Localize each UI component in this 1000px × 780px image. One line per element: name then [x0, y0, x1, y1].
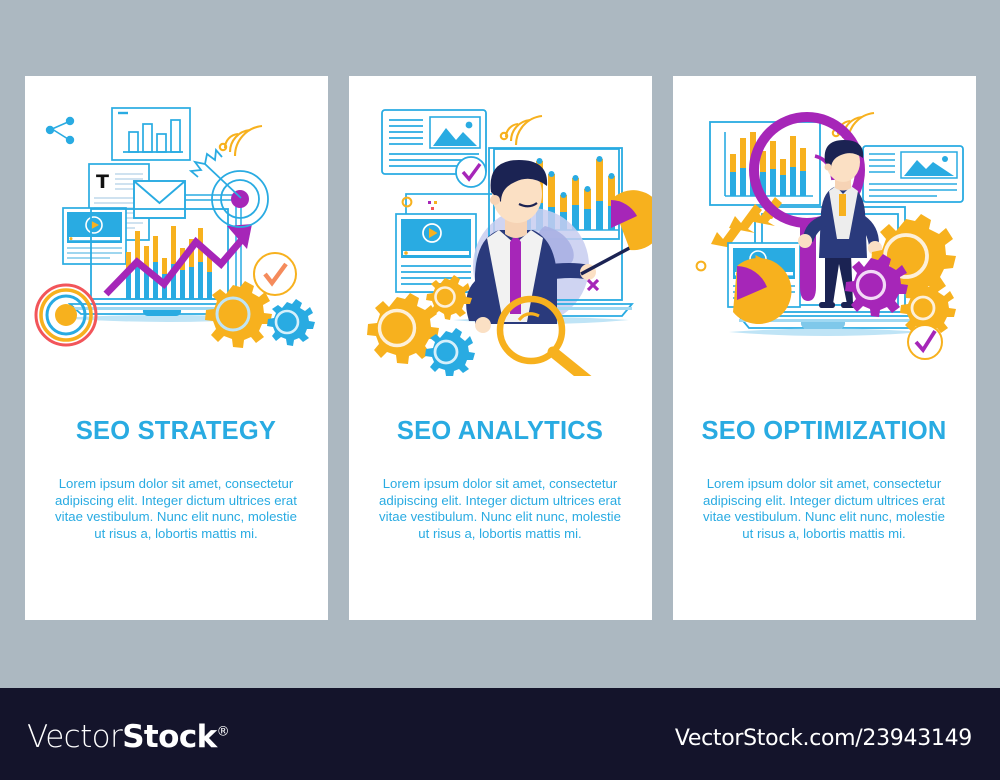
registered-mark: ®	[217, 725, 229, 740]
target-center	[231, 190, 249, 208]
envelope-icon	[134, 181, 185, 218]
businessman-leg	[825, 254, 853, 304]
bar-chart-window	[112, 108, 190, 160]
decor-circle-icon	[696, 262, 705, 271]
businessman-ear	[490, 195, 500, 205]
share-icon-node	[65, 136, 73, 144]
businessman-ear	[824, 164, 831, 171]
video-player-card	[63, 208, 126, 264]
decor-dots-icon	[428, 201, 437, 210]
watermark-footer: VectorStock® VectorStock.com/23943149	[0, 688, 1000, 780]
share-icon-node	[45, 126, 53, 134]
card-body-text: Lorem ipsum dolor sit amet, consectetur …	[50, 476, 302, 542]
article-card-with-image	[863, 146, 963, 202]
wifi-signal-icon	[219, 126, 261, 156]
check-circle-icon	[908, 325, 942, 359]
card-seo-optimization[interactable]: SEO OPTIMIZATION Lorem ipsum dolor sit a…	[673, 76, 976, 620]
cards-container: T	[0, 0, 1000, 688]
card-seo-analytics[interactable]: SEO ANALYTICS Lorem ipsum dolor sit amet…	[349, 76, 652, 620]
check-circle-icon	[456, 157, 486, 187]
bar-chart-yellow-blue	[725, 132, 813, 196]
concentric-circles-icon	[36, 285, 96, 345]
seo-analytics-illustration	[349, 76, 652, 376]
businessman-hand	[475, 317, 491, 333]
wifi-signal-icon	[500, 116, 541, 145]
seo-optimization-illustration	[673, 76, 976, 376]
decor-circle-icon	[402, 198, 411, 207]
pie-chart-icon	[611, 190, 652, 250]
logo-text-bold: Stock	[122, 719, 216, 755]
card-seo-strategy[interactable]: T	[25, 76, 328, 620]
card-title: SEO STRATEGY	[76, 417, 276, 446]
businessman-hand	[798, 234, 812, 248]
pointer-stick	[581, 244, 637, 274]
laptop-shadow	[729, 329, 923, 337]
check-circle-icon	[254, 253, 296, 295]
card-body-text: Lorem ipsum dolor sit amet, consectetur …	[698, 476, 950, 542]
logo-text-thin: Vector	[27, 719, 122, 755]
card-body-text: Lorem ipsum dolor sit amet, consectetur …	[374, 476, 626, 542]
card-title: SEO OPTIMIZATION	[702, 417, 947, 446]
vectorstock-url: VectorStock.com/23943149	[675, 726, 972, 751]
businessman-tie	[839, 194, 846, 216]
share-icon	[52, 122, 68, 139]
x-mark-icon	[588, 280, 598, 290]
laptop-notch	[142, 310, 180, 316]
laptop-notch	[800, 322, 844, 329]
card-title: SEO ANALYTICS	[397, 417, 603, 446]
businessman-shoe	[819, 302, 835, 308]
svg-text:T: T	[96, 171, 109, 193]
vectorstock-logo: VectorStock®	[27, 719, 229, 755]
blue-gear-icon	[267, 299, 315, 346]
arrow-icon	[191, 150, 241, 198]
share-icon-node	[65, 117, 73, 125]
seo-strategy-illustration: T	[25, 76, 328, 376]
screenshot-root: T	[0, 0, 1000, 780]
